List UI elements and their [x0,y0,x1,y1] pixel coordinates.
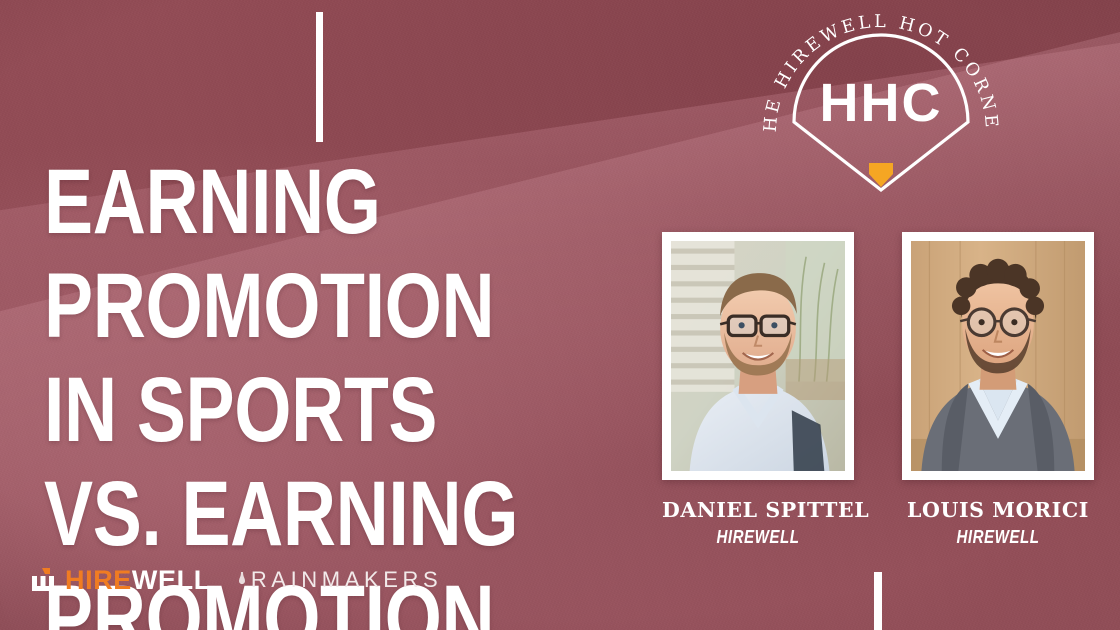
photo-frame [902,232,1094,480]
speaker-company: Hirewell [917,527,1078,548]
top-vertical-rule [316,12,323,142]
speaker-name: Daniel Spittel [662,498,854,522]
hirewell-mark-icon [28,565,58,595]
rainmakers-logo: RAINMAKERS [237,568,442,592]
speaker-name: Louis Morici [902,498,1094,522]
hirewell-logo: HIREWELL [28,565,211,595]
badge-monogram: HHC [820,73,943,133]
rainmakers-droplet-icon [237,568,249,592]
speaker-company: Hirewell [677,527,838,548]
hhc-badge-logo: THE HIREWELL HOT CORNER HHC [756,14,1006,194]
rainmakers-wordmark: RAINMAKERS [251,569,442,591]
photo-frame [662,232,854,480]
speaker-list: Daniel Spittel Hirewell [662,232,1094,548]
footer-logos: HIREWELL RAINMAKERS [28,565,442,595]
hirewell-wordmark-part-one: HIRE [65,565,132,595]
speaker-card: Daniel Spittel Hirewell [662,232,854,548]
hirewell-wordmark-part-two: WELL [132,565,211,595]
speaker-headshot-louis-morici [911,241,1085,471]
speaker-headshot-daniel-spittel [671,241,845,471]
bottom-vertical-rule [874,572,882,630]
page-title: Earning Promotion in Sports vs. Earning … [44,150,540,630]
speaker-card: Louis Morici Hirewell [902,232,1094,548]
presentation-slide: THE HIREWELL HOT CORNER HHC Earning Prom… [0,0,1120,630]
hirewell-wordmark: HIREWELL [65,567,211,594]
